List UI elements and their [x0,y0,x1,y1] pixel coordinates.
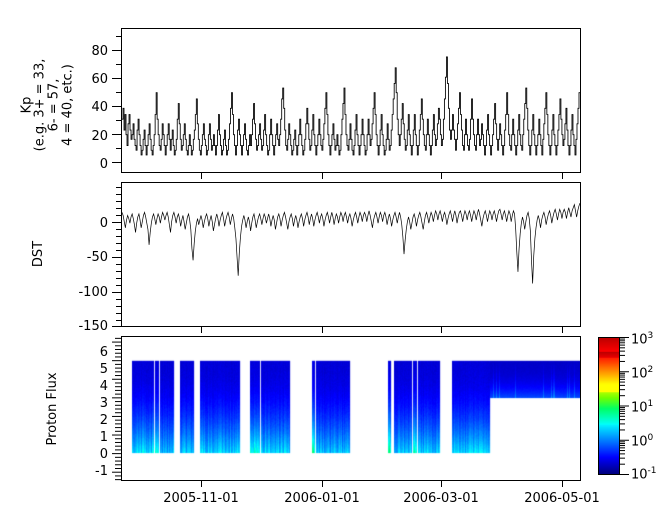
colorbar-label-1e3: 103 [631,331,653,347]
colorbar-label-1e0: 100 [631,433,653,449]
kp-axis-label: Kp (e.g. 3+ = 33, 6- = 57, 4 = 40, etc.) [18,28,78,183]
kp-ytick-0: 0 [74,157,108,172]
xtick-label-2006-05-01: 2006-05-01 [506,491,618,506]
dst-series-svg [122,183,580,326]
kp-ytick-40: 40 [74,100,108,115]
kp-xtick-marks [121,173,582,180]
dst-ytick-0: 0 [60,216,108,231]
flux-ytick-marks [106,336,122,481]
flux-ytick-1: 1 [78,430,108,445]
colorbar-label-1e1-exponent: 1 [648,399,654,409]
flux-ytick-2: 2 [78,413,108,428]
flux-ytick-4: 4 [78,379,108,394]
colorbar-label-1em1: 10-1 [631,466,657,482]
flux-ytick-3: 3 [78,396,108,411]
dst-ytick-marks [106,182,122,327]
dst-axis-label: DST [30,224,48,284]
flux-axis-label: Proton Flux [44,354,62,464]
flux-ytick-m1: -1 [78,464,108,479]
colorbar-label-1e0-exponent: 0 [648,433,654,443]
colorbar-label-1em1-exponent: -1 [648,466,657,476]
colorbar-label-1e3-exponent: 3 [648,331,654,341]
dst-ytick-m50: -50 [60,250,108,265]
proton-flux-plot-area [122,337,580,480]
kp-plot-area [122,29,580,172]
colorbar-label-1e2-mantissa: 10 [631,366,648,381]
colorbar-tick-marks [620,337,630,476]
kp-axis-label-line-4: 4 = 40, etc.) [61,64,75,146]
colorbar-label-1e1-mantissa: 10 [631,400,648,415]
kp-axis-label-line-1: Kp [20,97,34,114]
colorbar-label-1e2-exponent: 2 [648,365,654,375]
proton-flux-panel [121,336,581,481]
kp-series-svg [122,29,580,172]
flux-ytick-0: 0 [78,447,108,462]
xtick-label-2006-03-01: 2006-03-01 [385,491,497,506]
kp-panel [121,28,581,173]
dst-panel [121,182,581,327]
kp-ytick-marks [106,28,122,173]
xtick-label-2006-01-01: 2006-01-01 [266,491,378,506]
kp-ytick-60: 60 [74,72,108,87]
colorbar-label-1e1: 101 [631,399,653,415]
dst-plot-area [122,183,580,326]
kp-axis-label-line-3: 6- = 57, [48,79,62,132]
kp-ytick-80: 80 [74,44,108,59]
dst-xtick-marks [121,327,582,334]
proton-flux-spectrogram [122,337,580,480]
dst-ytick-m150: -150 [60,319,108,334]
colorbar [598,337,620,475]
flux-ytick-6: 6 [78,345,108,360]
colorbar-label-1em1-mantissa: 10 [631,467,648,482]
flux-xtick-marks [121,481,582,488]
kp-axis-label-line-2: (e.g. 3+ = 33, [34,59,48,152]
xtick-label-2005-11-01: 2005-11-01 [145,491,257,506]
dst-ytick-m100: -100 [60,285,108,300]
kp-ytick-20: 20 [74,129,108,144]
flux-ytick-5: 5 [78,362,108,377]
colorbar-label-1e3-mantissa: 10 [631,332,648,347]
colorbar-label-1e0-mantissa: 10 [631,434,648,449]
figure-canvas: Kp (e.g. 3+ = 33, 6- = 57, 4 = 40, etc.)… [0,0,665,523]
colorbar-label-1e2: 102 [631,365,653,381]
